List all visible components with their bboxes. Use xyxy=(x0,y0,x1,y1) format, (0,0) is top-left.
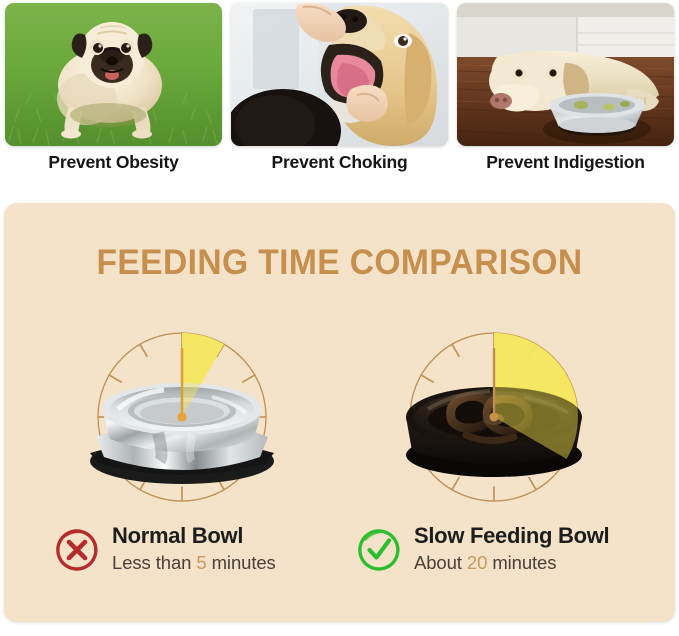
result-sub-suffix-slow: minutes xyxy=(487,552,556,573)
overweight-pug-photo xyxy=(5,3,222,146)
result-title-normal-bowl: Normal Bowl xyxy=(112,523,243,549)
labrador-at-bowl-photo xyxy=(457,3,674,146)
result-normal-bowl: Normal Bowl Less than 5 minutes xyxy=(54,523,354,593)
benefit-caption-choking: Prevent Choking xyxy=(231,152,448,173)
result-sub-prefix-normal: Less than xyxy=(112,552,196,573)
cross-circle-icon xyxy=(54,527,100,573)
benefit-card-obesity[interactable] xyxy=(5,3,222,146)
dog-choking-check-photo xyxy=(231,3,448,146)
result-title-slow-feeding-bowl: Slow Feeding Bowl xyxy=(414,523,609,549)
benefit-card-choking[interactable] xyxy=(231,3,448,146)
result-slow-feeding-bowl: Slow Feeding Bowl About 20 minutes xyxy=(356,523,656,593)
result-sub-suffix-normal: minutes xyxy=(207,552,276,573)
panel-title: FEEDING TIME COMPARISON xyxy=(17,243,661,283)
benefit-caption-indigestion: Prevent Indigestion xyxy=(457,152,674,173)
benefit-caption-obesity: Prevent Obesity xyxy=(5,152,222,173)
result-sub-prefix-slow: About xyxy=(414,552,467,573)
result-subtitle-normal-bowl: Less than 5 minutes xyxy=(112,552,276,574)
clock-slow-feeding-bowl xyxy=(374,305,614,505)
result-sub-value-normal: 5 xyxy=(196,552,206,573)
clock-normal-bowl xyxy=(62,305,302,505)
benefits-row: Prevent Obesity xyxy=(0,0,679,196)
check-circle-icon xyxy=(356,527,402,573)
benefit-card-indigestion[interactable] xyxy=(457,3,674,146)
feeding-time-comparison-panel: FEEDING TIME COMPARISON xyxy=(4,203,675,622)
result-subtitle-slow-feeding-bowl: About 20 minutes xyxy=(414,552,556,574)
result-sub-value-slow: 20 xyxy=(467,552,487,573)
